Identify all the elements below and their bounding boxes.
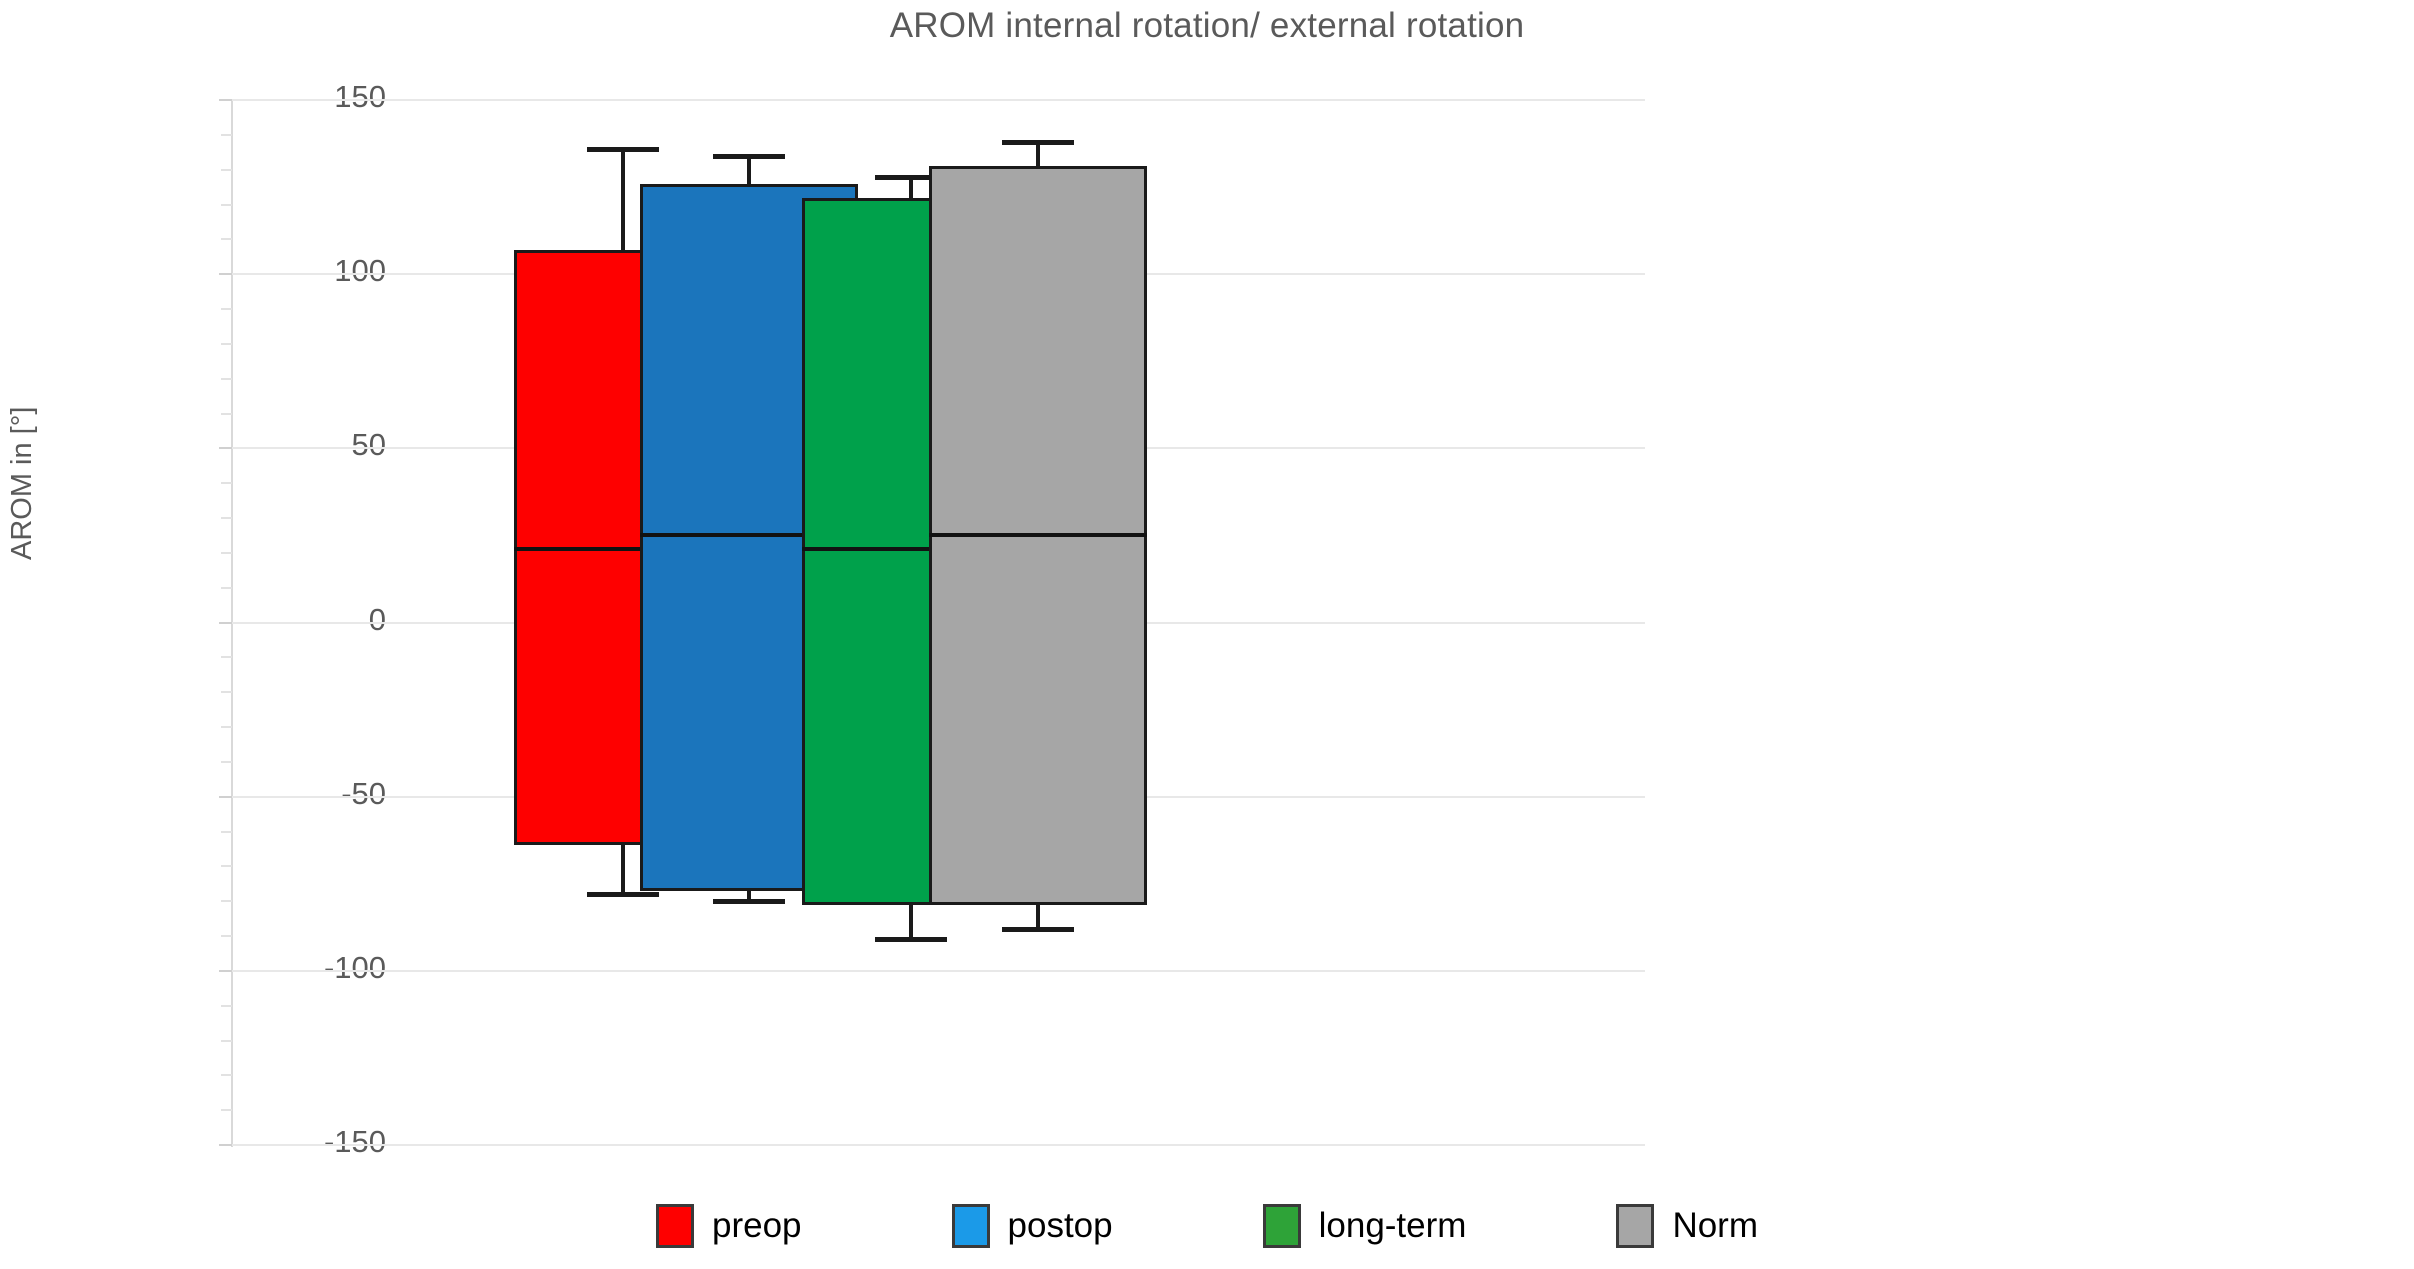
legend-swatch-icon <box>1616 1204 1654 1248</box>
y-tick-minor <box>221 691 232 693</box>
y-tick-minor <box>221 238 232 240</box>
whisker-lower-line <box>909 905 913 940</box>
y-tick-minor <box>221 204 232 206</box>
box-plot-norm[interactable] <box>929 100 1147 1145</box>
y-tick-minor <box>221 726 232 728</box>
y-tick-minor <box>221 1005 232 1007</box>
y-tick-minor <box>221 865 232 867</box>
y-tick-minor <box>221 831 232 833</box>
legend-item-preop[interactable]: preop <box>656 1204 802 1248</box>
legend-label: Norm <box>1672 1206 1758 1246</box>
legend-swatch-icon <box>1263 1204 1301 1248</box>
whisker-upper-line <box>1036 142 1040 166</box>
y-tick-minor <box>221 656 232 658</box>
y-tick-minor <box>221 900 232 902</box>
median-line <box>929 533 1147 537</box>
y-tick-minor <box>221 1109 232 1111</box>
y-tick-minor <box>221 378 232 380</box>
whisker-upper-line <box>747 156 751 184</box>
y-tick-minor <box>221 552 232 554</box>
y-axis-title: AROM in [°] <box>6 520 39 560</box>
plot-area <box>232 100 1645 1145</box>
y-tick-minor <box>221 343 232 345</box>
legend-swatch-icon <box>952 1204 990 1248</box>
y-tick-minor <box>221 134 232 136</box>
box-plot-chart: AROM internal rotation/ external rotatio… <box>0 0 2414 1269</box>
legend-item-postop[interactable]: postop <box>952 1204 1113 1248</box>
legend-label: postop <box>1008 1206 1113 1246</box>
y-tick-minor <box>221 169 232 171</box>
y-tick-minor <box>221 482 232 484</box>
legend-item-norm[interactable]: Norm <box>1616 1204 1758 1248</box>
legend-label: preop <box>712 1206 802 1246</box>
legend-item-long-term[interactable]: long-term <box>1263 1204 1467 1248</box>
y-tick-minor <box>221 1074 232 1076</box>
y-tick-minor <box>221 1040 232 1042</box>
whisker-lower-line <box>1036 905 1040 929</box>
y-tick-minor <box>221 761 232 763</box>
y-tick-minor <box>221 413 232 415</box>
whisker-upper-line <box>621 149 625 250</box>
chart-legend: preoppostoplong-termNorm <box>0 1194 2414 1258</box>
whisker-lower-cap <box>1002 927 1074 932</box>
y-tick-minor <box>221 308 232 310</box>
whisker-lower-cap <box>713 899 785 904</box>
whisker-upper-line <box>909 177 913 198</box>
whisker-upper-cap <box>1002 140 1074 145</box>
whisker-lower-line <box>621 845 625 894</box>
y-tick-minor <box>221 587 232 589</box>
whisker-upper-cap <box>713 154 785 159</box>
legend-label: long-term <box>1319 1206 1467 1246</box>
y-tick-minor <box>221 935 232 937</box>
y-tick-minor <box>221 517 232 519</box>
legend-swatch-icon <box>656 1204 694 1248</box>
chart-title: AROM internal rotation/ external rotatio… <box>0 6 2414 46</box>
